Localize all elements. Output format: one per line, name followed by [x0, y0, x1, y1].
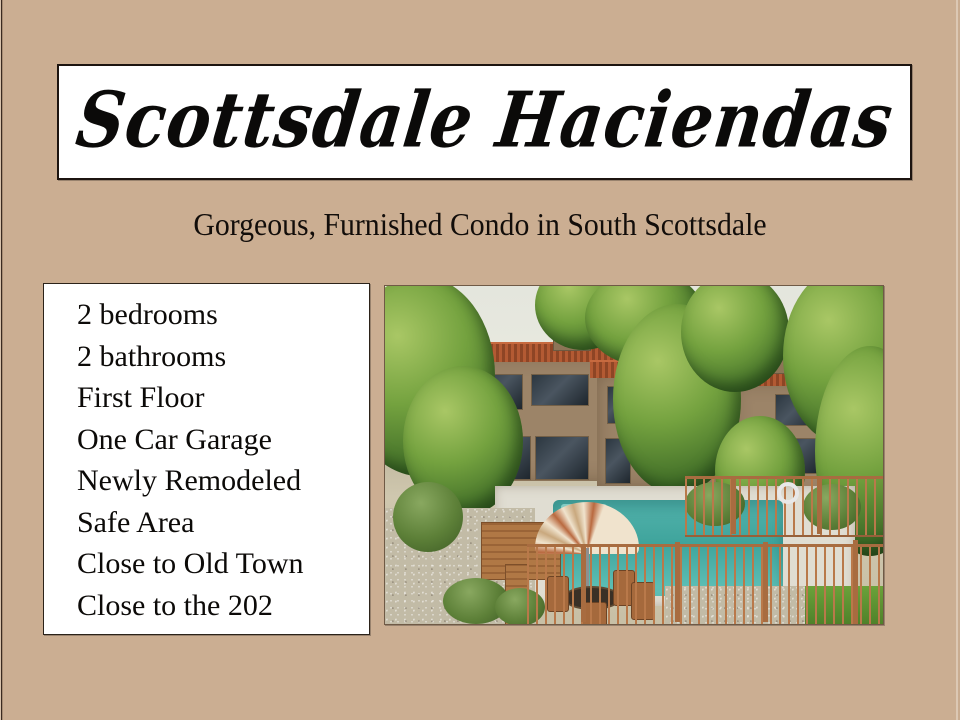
fence-post	[853, 540, 858, 624]
title-plaque: Scottsdale Haciendas	[57, 64, 912, 180]
list-item: 2 bathrooms	[77, 336, 369, 378]
list-item: Close to the 202	[77, 585, 369, 627]
property-photo	[384, 285, 884, 625]
window	[531, 374, 589, 406]
fence-post	[581, 544, 586, 622]
list-item: Close to Old Town	[77, 543, 369, 585]
fence-post	[731, 476, 736, 534]
right-edge-rule	[954, 0, 960, 720]
subtitle: Gorgeous, Furnished Condo in South Scott…	[34, 205, 927, 243]
left-edge-rule	[0, 0, 5, 720]
shrub	[393, 482, 463, 552]
fence-post	[817, 476, 822, 534]
page-title: Scottsdale Haciendas	[72, 81, 897, 162]
features-panel: 2 bedrooms 2 bathrooms First Floor One C…	[43, 283, 370, 635]
window	[535, 436, 589, 480]
list-item: First Floor	[77, 377, 369, 419]
photo-scene	[385, 286, 883, 624]
list-item: 2 bedrooms	[77, 294, 369, 336]
list-item: One Car Garage	[77, 419, 369, 461]
list-item: Newly Remodeled	[77, 460, 369, 502]
fence-post	[675, 542, 680, 622]
life-ring-icon	[777, 482, 799, 504]
listing-flyer: Scottsdale Haciendas Gorgeous, Furnished…	[0, 0, 960, 720]
list-item: Safe Area	[77, 502, 369, 544]
fence-post	[763, 542, 768, 622]
